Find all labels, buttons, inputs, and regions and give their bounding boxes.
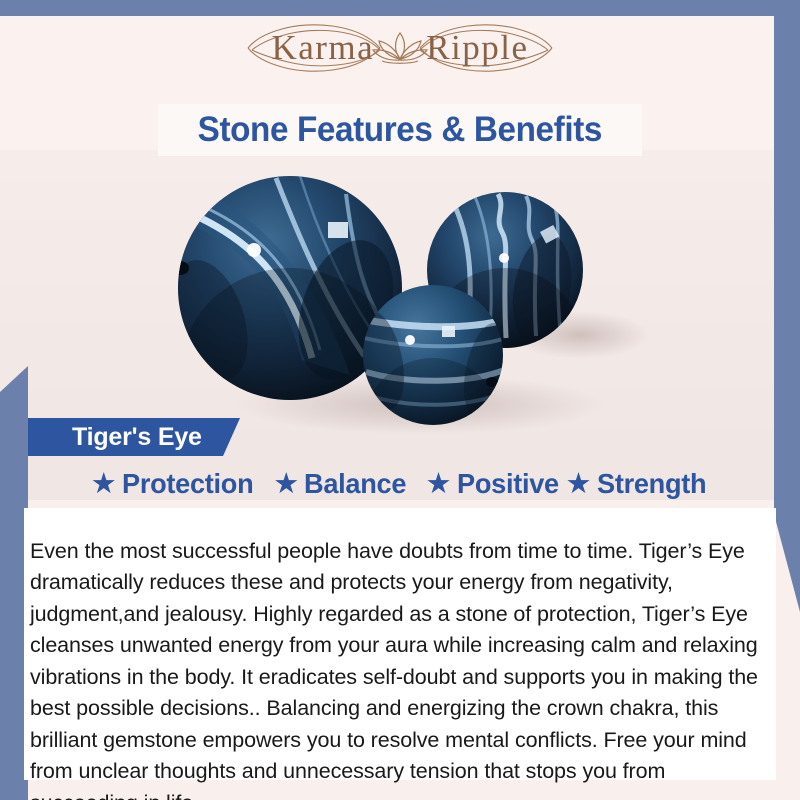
benefit-item-protection: ★ Protection (91, 468, 257, 500)
star-icon: ★ (566, 470, 592, 499)
stone-name-label: Tiger's Eye (28, 423, 202, 452)
description-panel: Even the most successful people have dou… (24, 508, 776, 780)
star-icon: ★ (91, 470, 117, 499)
benefit-label: Strength (597, 468, 706, 500)
star-icon: ★ (273, 470, 299, 499)
brand-name-part1: Karma (271, 28, 374, 67)
benefit-label: Balance (304, 468, 406, 500)
benefit-label: Positive (457, 468, 559, 500)
infographic-page: KarmaRipple Stone Features & Benefits (0, 0, 800, 800)
stone-name-ribbon: Tiger's Eye (28, 418, 240, 456)
title-banner: Stone Features & Benefits (158, 104, 642, 156)
brand-name: KarmaRipple (271, 28, 528, 68)
star-icon: ★ (426, 470, 452, 499)
frame-band-top (0, 0, 800, 16)
benefit-item-balance: ★ Balance (273, 468, 409, 500)
brand-name-part2: Ripple (426, 28, 528, 67)
description-text: Even the most successful people have dou… (30, 536, 774, 800)
benefit-item-strength: ★ Strength (566, 468, 710, 500)
benefits-row: ★ Protection ★ Balance ★ Positive ★ Stre… (24, 464, 776, 504)
gemstone-photo (150, 160, 650, 435)
benefit-item-positive: ★ Positive (426, 468, 562, 500)
page-title: Stone Features & Benefits (198, 110, 602, 150)
brand-logo: KarmaRipple (0, 28, 800, 68)
frame-band-right (774, 0, 800, 612)
benefit-label: Protection (122, 468, 253, 500)
